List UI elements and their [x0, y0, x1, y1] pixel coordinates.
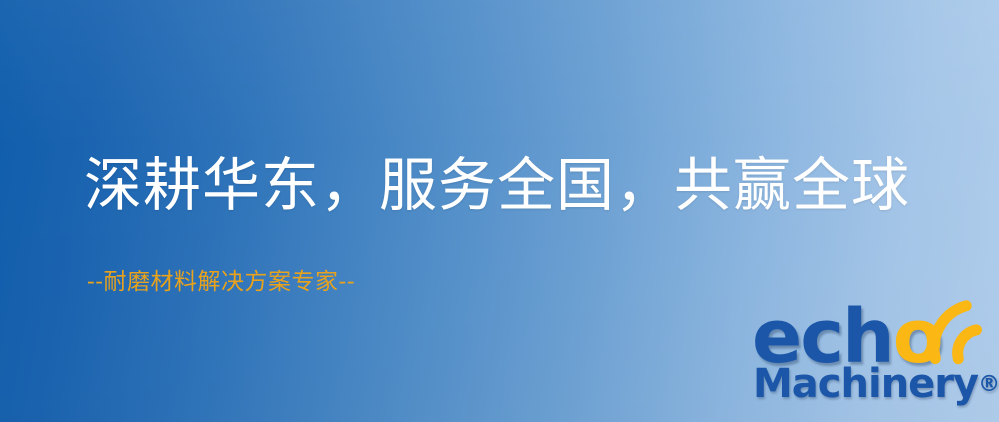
- echo-machinery-logo[interactable]: echo Machinery®: [752, 300, 999, 422]
- banner-headline: 深耕华东，服务全国，共赢全球: [84, 150, 910, 220]
- logo-subtext: Machinery: [753, 361, 978, 407]
- promo-banner: 深耕华东，服务全国，共赢全球 --耐磨材料解决方案专家-- echo Machi…: [0, 0, 999, 422]
- logo-subtext-wrap: Machinery®: [753, 362, 999, 407]
- banner-subtitle: --耐磨材料解决方案专家--: [87, 266, 355, 298]
- registered-trademark-icon: ®: [978, 372, 999, 397]
- signal-arcs-icon: [912, 294, 998, 368]
